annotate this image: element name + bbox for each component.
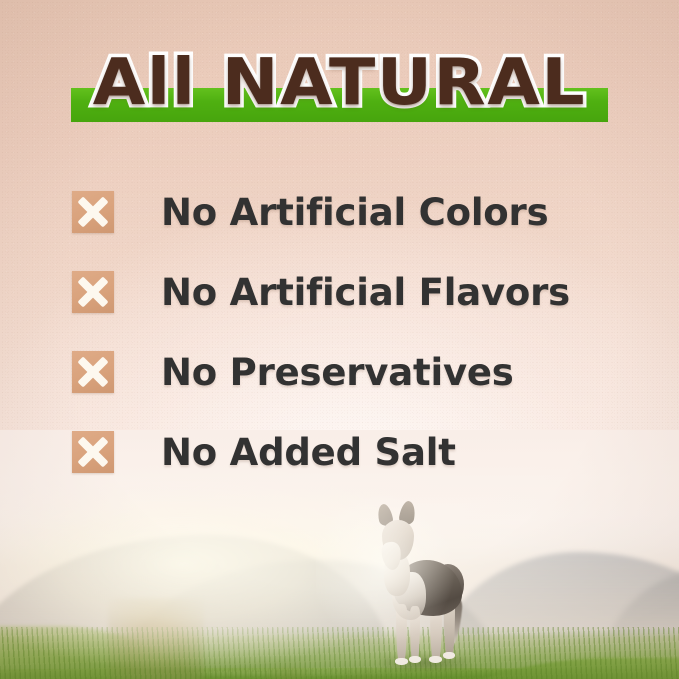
list-item-label: No Added Salt <box>161 431 456 474</box>
list-item-label: No Preservatives <box>161 351 514 394</box>
title-banner: All NATURAL <box>0 46 679 132</box>
product-feature-poster: All NATURAL No Artificial Colors No Arti… <box>0 0 679 679</box>
x-mark-icon <box>72 431 114 473</box>
x-mark-icon <box>72 351 114 393</box>
list-item: No Added Salt <box>72 412 612 492</box>
x-mark-icon <box>72 191 114 233</box>
x-mark-icon <box>72 271 114 313</box>
poster-title: All NATURAL <box>0 46 679 120</box>
benefits-list: No Artificial Colors No Artificial Flavo… <box>72 172 612 492</box>
list-item-label: No Artificial Colors <box>161 191 548 234</box>
list-item: No Preservatives <box>72 332 612 412</box>
list-item: No Artificial Flavors <box>72 252 612 332</box>
list-item-label: No Artificial Flavors <box>161 271 570 314</box>
list-item: No Artificial Colors <box>72 172 612 252</box>
